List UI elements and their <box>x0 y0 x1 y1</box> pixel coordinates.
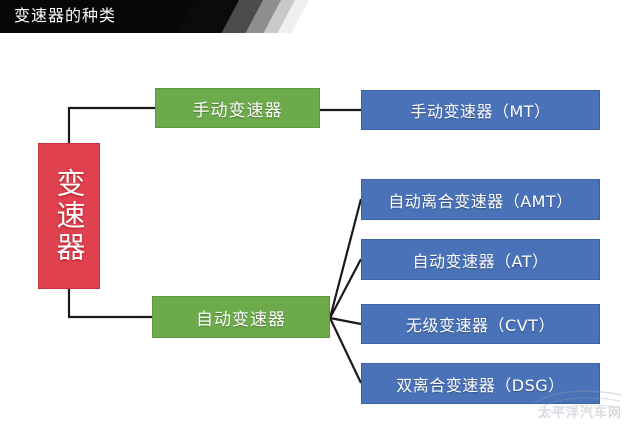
node-category-automatic-label: 自动变速器 <box>196 305 286 330</box>
wire-automatic-to-cvt <box>330 318 361 324</box>
node-root-label: 变速器 <box>49 168 89 264</box>
node-leaf-amt-label: 自动离合变速器（AMT） <box>388 188 573 212</box>
diagram-canvas: 变速器的种类 变速器 手动变速器 自动变速器 手动变速器（MT） 自动离合变速器… <box>0 0 640 427</box>
wire-root-to-automatic <box>69 289 152 317</box>
node-leaf-at[interactable]: 自动变速器（AT） <box>361 239 600 280</box>
wire-root-to-manual <box>69 108 155 143</box>
node-leaf-dsg[interactable]: 双离合变速器（DSG） <box>361 363 600 404</box>
node-category-manual[interactable]: 手动变速器 <box>155 88 320 128</box>
node-root-transmission[interactable]: 变速器 <box>38 143 100 289</box>
node-leaf-dsg-label: 双离合变速器（DSG） <box>396 372 564 396</box>
node-category-automatic[interactable]: 自动变速器 <box>152 296 330 338</box>
node-category-manual-label: 手动变速器 <box>193 96 283 121</box>
node-leaf-cvt-label: 无级变速器（CVT） <box>406 312 555 336</box>
wire-automatic-to-dsg <box>330 318 361 383</box>
node-leaf-mt-label: 手动变速器（MT） <box>410 98 550 122</box>
node-leaf-amt[interactable]: 自动离合变速器（AMT） <box>361 179 600 220</box>
wire-automatic-to-at <box>330 259 361 318</box>
node-leaf-mt[interactable]: 手动变速器（MT） <box>361 90 600 130</box>
node-leaf-at-label: 自动变速器（AT） <box>413 248 549 272</box>
node-leaf-cvt[interactable]: 无级变速器（CVT） <box>361 304 600 344</box>
wire-automatic-to-amt <box>330 199 361 318</box>
